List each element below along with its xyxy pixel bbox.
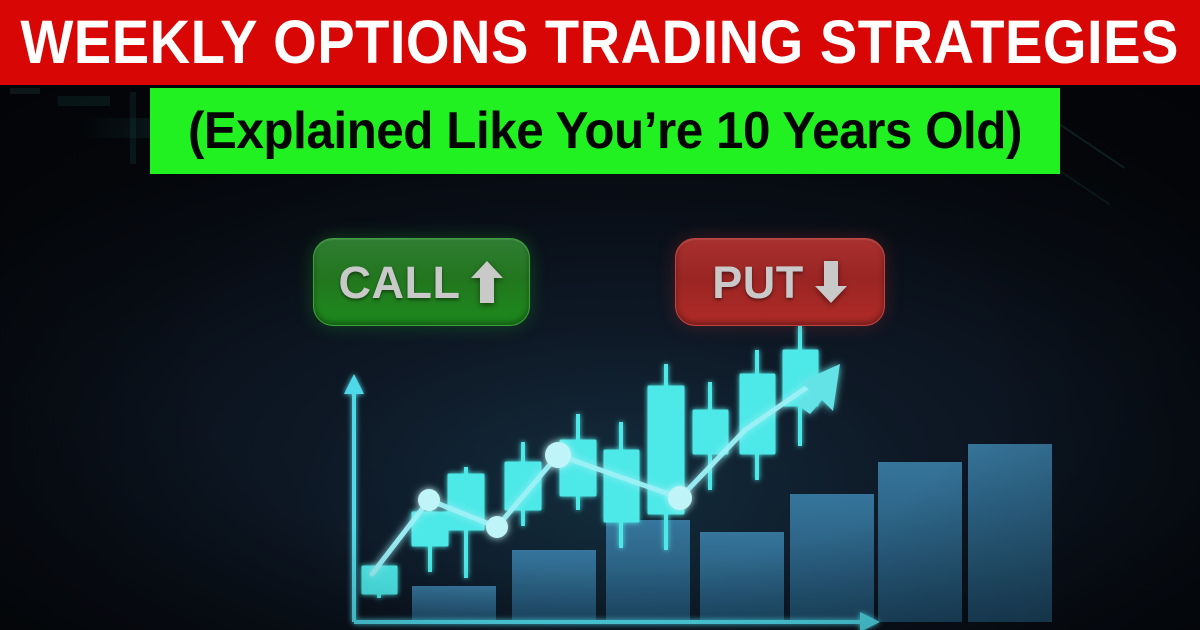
call-button[interactable]: CALL (313, 238, 530, 326)
headline-title: WEEKLY OPTIONS TRADING STRATEGIES (21, 12, 1179, 73)
call-button-label: CALL (339, 260, 461, 305)
arrow-down-icon (814, 259, 848, 305)
arrow-up-icon (470, 259, 504, 305)
subtitle-text: (Explained Like You’re 10 Years Old) (188, 105, 1022, 157)
thumbnail-canvas: WEEKLY OPTIONS TRADING STRATEGIES (Expla… (0, 0, 1200, 630)
subtitle-banner: (Explained Like You’re 10 Years Old) (150, 88, 1060, 174)
put-button[interactable]: PUT (675, 238, 885, 326)
put-button-label: PUT (712, 260, 804, 305)
headline-banner: WEEKLY OPTIONS TRADING STRATEGIES (0, 0, 1200, 85)
